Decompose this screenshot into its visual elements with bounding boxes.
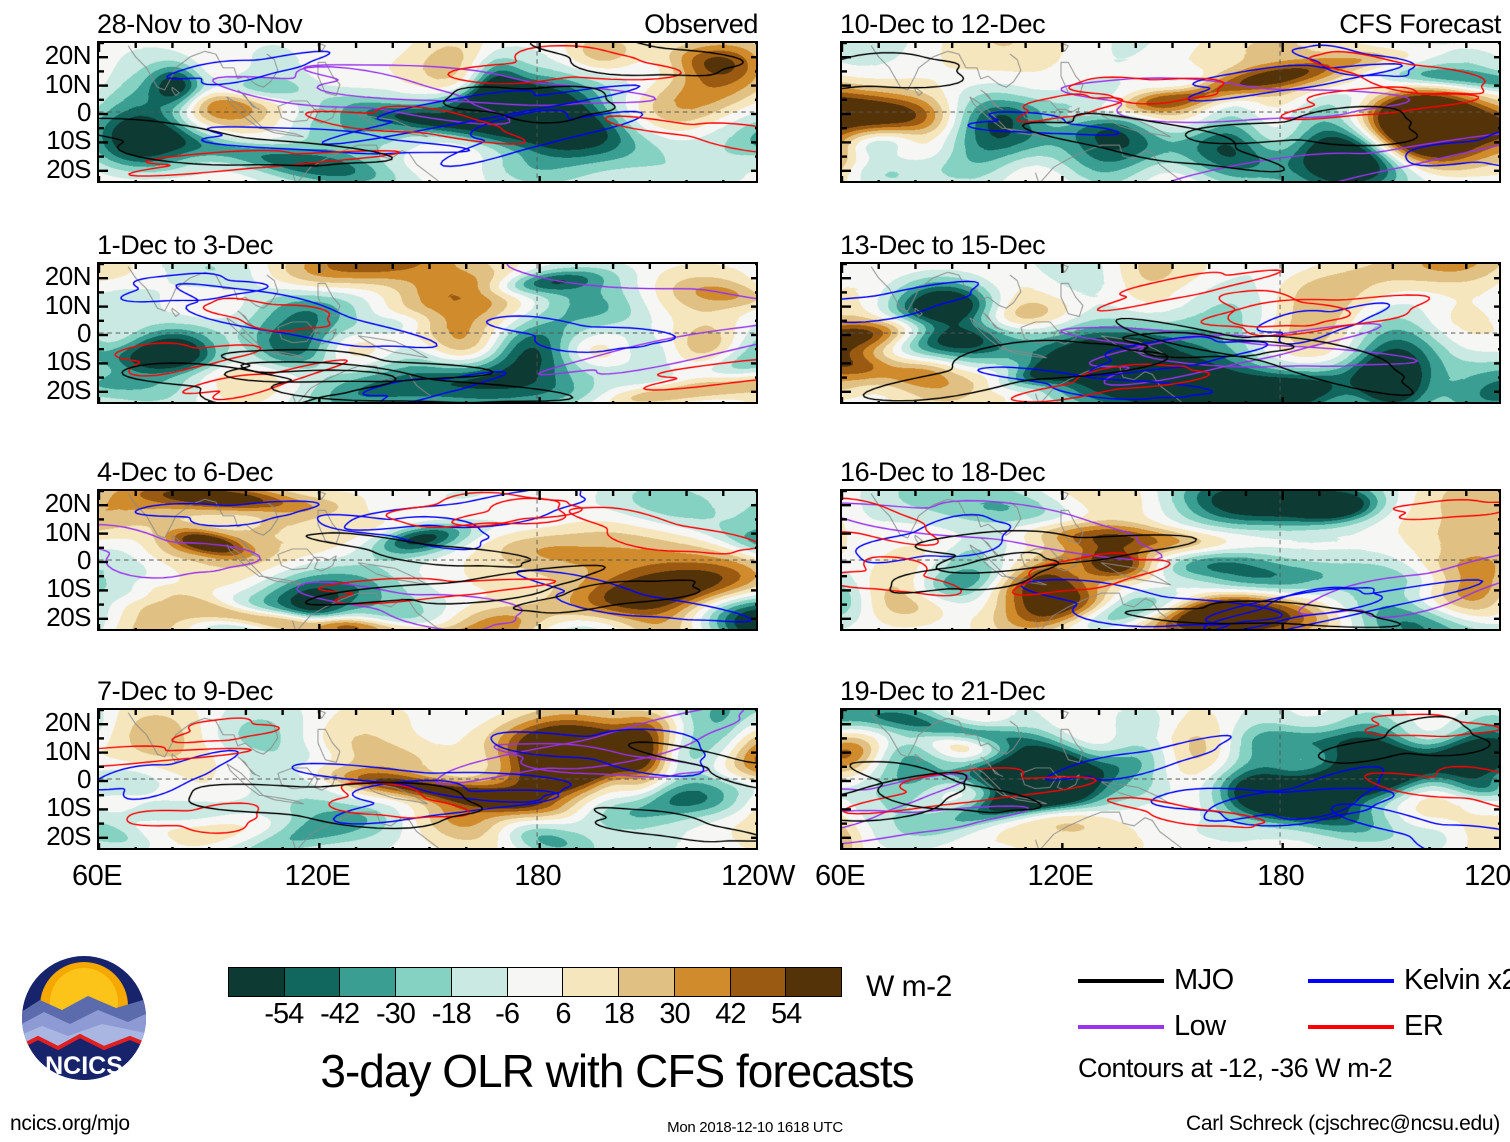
y-tick-label: 10S (46, 348, 91, 374)
legend-color-line (1078, 1025, 1164, 1029)
y-tick-label: 20S (46, 377, 91, 403)
y-tick-label: 0 (77, 320, 91, 346)
panel-title: 1-Dec to 3-Dec (97, 232, 273, 259)
panel-column-header: CFS Forecast (1339, 11, 1501, 38)
legend-item: Low (1078, 1012, 1226, 1041)
y-tick-label: 20S (46, 823, 91, 849)
olr-anomaly-field (99, 491, 756, 629)
y-axis-labels: 20N10N010S20S (0, 41, 91, 183)
colorbar-swatch (396, 968, 452, 996)
olr-plot-area (840, 262, 1501, 404)
colorbar-tick-label: 6 (555, 1000, 570, 1029)
panel-title: 13-Dec to 15-Dec (840, 232, 1045, 259)
x-tick-label: 120W (1464, 862, 1510, 891)
olr-plot-area (97, 708, 758, 850)
colorbar-tick-label: 54 (771, 1000, 801, 1029)
olr-anomaly-field (99, 710, 756, 848)
olr-panel: 7-Dec to 9-Dec20N10N010S20S60E120E180120… (97, 708, 758, 850)
colorbar-tick-label: 42 (715, 1000, 745, 1029)
legend-color-line (1308, 1025, 1394, 1029)
colorbar-tick-label: 30 (659, 1000, 689, 1029)
x-tick-label: 120E (1027, 862, 1093, 891)
legend-color-line (1078, 979, 1164, 983)
colorbar-swatch (563, 968, 619, 996)
olr-panel: 4-Dec to 6-Dec20N10N010S20S (97, 489, 758, 631)
olr-panel: 19-Dec to 21-Dec60E120E180120W (840, 708, 1501, 850)
olr-panel: 28-Nov to 30-NovObserved20N10N010S20S (97, 41, 758, 183)
y-tick-label: 10N (45, 519, 91, 545)
colorbar-unit-label: W m-2 (866, 970, 952, 1004)
olr-anomaly-field (842, 264, 1499, 402)
colorbar-swatch (229, 968, 285, 996)
colorbar-tick-label: -54 (264, 1000, 303, 1029)
y-tick-label: 10S (46, 575, 91, 601)
colorbar-swatch (786, 968, 841, 996)
olr-plot-area (840, 41, 1501, 183)
colorbar-tick-label: -6 (495, 1000, 519, 1029)
legend-item: Kelvin x2 (1308, 966, 1510, 995)
x-tick-label: 120E (284, 862, 350, 891)
olr-plot-area (97, 489, 758, 631)
y-tick-label: 20N (45, 709, 91, 735)
olr-plot-area (840, 489, 1501, 631)
legend-label: MJO (1174, 966, 1234, 995)
panel-grid: 28-Nov to 30-NovObserved20N10N010S20S1-D… (0, 0, 1510, 920)
colorbar-tick-label: -30 (376, 1000, 415, 1029)
y-tick-label: 10S (46, 794, 91, 820)
legend-item: ER (1308, 1012, 1443, 1041)
olr-panel: 1-Dec to 3-Dec20N10N010S20S (97, 262, 758, 404)
y-tick-label: 20N (45, 42, 91, 68)
colorbar-swatch (452, 968, 508, 996)
y-tick-label: 20N (45, 490, 91, 516)
olr-anomaly-field (842, 43, 1499, 181)
y-tick-label: 10N (45, 71, 91, 97)
olr-anomaly-field (842, 491, 1499, 629)
footer-timestamp: Mon 2018-12-10 1618 UTC (667, 1119, 843, 1136)
x-tick-label: 60E (72, 862, 122, 891)
panel-title: 10-Dec to 12-Dec (840, 11, 1045, 38)
colorbar-swatch (340, 968, 396, 996)
legend-label: Kelvin x2 (1404, 966, 1510, 995)
y-tick-label: 0 (77, 547, 91, 573)
olr-panel: 10-Dec to 12-DecCFS Forecast (840, 41, 1501, 183)
olr-panel: 16-Dec to 18-Dec (840, 489, 1501, 631)
legend-color-line (1308, 979, 1394, 983)
main-title: 3-day OLR with CFS forecasts (247, 1048, 987, 1094)
y-tick-label: 20S (46, 156, 91, 182)
y-tick-label: 10N (45, 292, 91, 318)
contour-legend: MJOKelvin x2LowER (1078, 966, 1498, 1058)
y-axis-labels: 20N10N010S20S (0, 708, 91, 850)
legend-label: ER (1404, 1012, 1443, 1041)
y-tick-label: 20N (45, 263, 91, 289)
y-tick-label: 0 (77, 99, 91, 125)
olr-plot-area (97, 262, 758, 404)
y-tick-label: 10S (46, 127, 91, 153)
panel-title: 7-Dec to 9-Dec (97, 678, 273, 705)
legend-item: MJO (1078, 966, 1234, 995)
panel-title: 19-Dec to 21-Dec (840, 678, 1045, 705)
x-axis-labels: 60E120E180120W (97, 862, 758, 906)
footer-credit: Carl Schreck (cjschrec@ncsu.edu) (1186, 1112, 1500, 1136)
legend-label: Low (1174, 1012, 1226, 1041)
olr-anomaly-field (99, 264, 756, 402)
colorbar-swatch (285, 968, 341, 996)
y-axis-labels: 20N10N010S20S (0, 489, 91, 631)
y-axis-labels: 20N10N010S20S (0, 262, 91, 404)
olr-plot-area (840, 708, 1501, 850)
contour-note: Contours at -12, -36 W m-2 (1078, 1053, 1392, 1084)
olr-panel: 13-Dec to 15-Dec (840, 262, 1501, 404)
colorbar-tick-labels: -54-42-30-18-6618304254 (228, 1000, 842, 1032)
olr-plot-area (97, 41, 758, 183)
x-tick-label: 180 (1257, 862, 1304, 891)
panel-title: 4-Dec to 6-Dec (97, 459, 273, 486)
colorbar-swatch (675, 968, 731, 996)
panel-column-header: Observed (644, 11, 758, 38)
x-tick-label: 120W (721, 862, 795, 891)
colorbar-tick-label: -18 (432, 1000, 471, 1029)
x-tick-label: 60E (815, 862, 865, 891)
y-tick-label: 10N (45, 738, 91, 764)
y-tick-label: 0 (77, 766, 91, 792)
panel-title: 16-Dec to 18-Dec (840, 459, 1045, 486)
colorbar (228, 967, 842, 997)
colorbar-swatch (619, 968, 675, 996)
colorbar-tick-label: 18 (604, 1000, 634, 1029)
olr-anomaly-field (842, 710, 1499, 848)
colorbar-tick-label: -42 (320, 1000, 359, 1029)
olr-anomaly-field (99, 43, 756, 181)
colorbar-swatch (508, 968, 564, 996)
y-tick-label: 20S (46, 604, 91, 630)
x-axis-labels: 60E120E180120W (840, 862, 1501, 906)
x-tick-label: 180 (514, 862, 561, 891)
ncics-logo: NCICS (18, 952, 150, 1084)
footer-left[interactable]: ncics.org/mjo (10, 1112, 130, 1136)
logo-text: NCICS (45, 1052, 123, 1080)
panel-title: 28-Nov to 30-Nov (97, 11, 302, 38)
colorbar-swatch (731, 968, 787, 996)
